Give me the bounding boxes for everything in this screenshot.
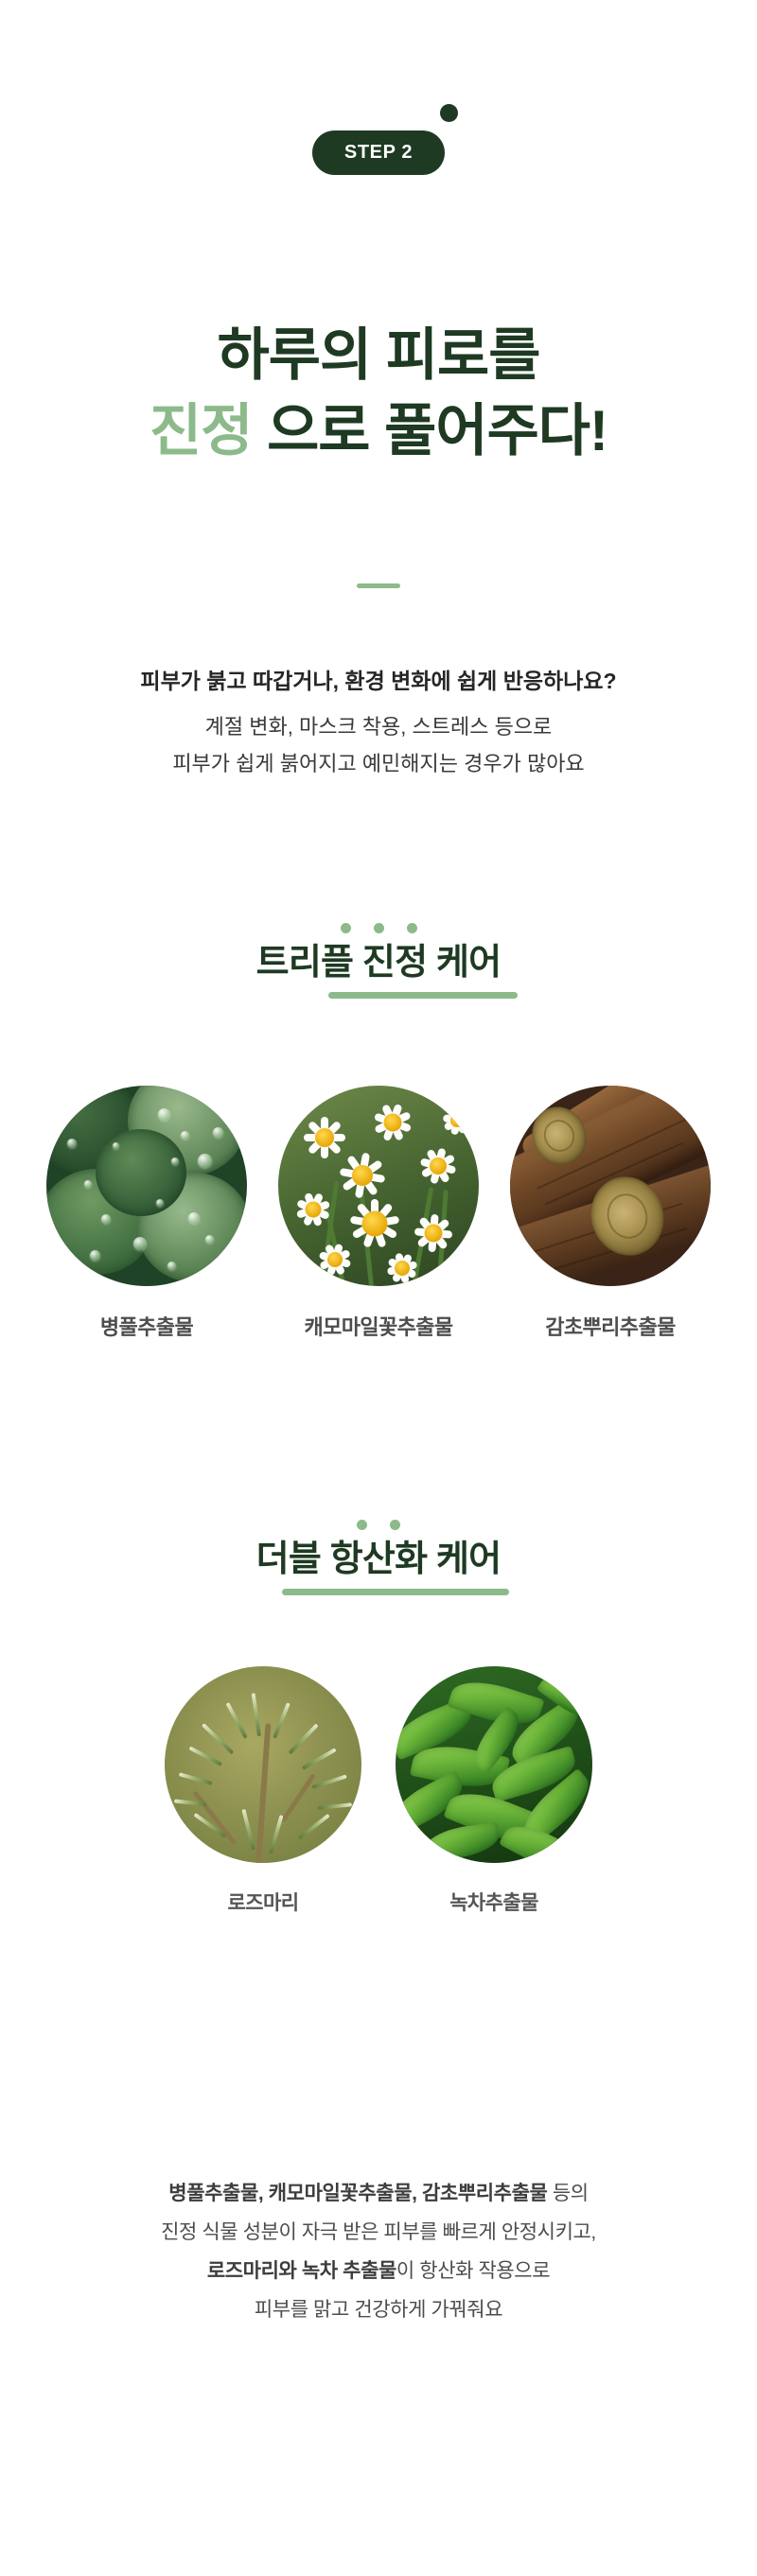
ingredient-item: 캐모마일꽃추출물 xyxy=(278,1086,479,1341)
closing-paragraph: 병풀추출물, 캐모마일꽃추출물, 감초뿌리추출물 등의 진정 식물 성분이 자극… xyxy=(0,2175,757,2330)
dot-icon xyxy=(390,1520,400,1530)
title-underline xyxy=(328,992,518,999)
ingredient-label: 캐모마일꽃추출물 xyxy=(304,1311,452,1341)
licorice-root-photo xyxy=(510,1086,711,1286)
closing-line-2: 진정 식물 성분이 자극 받은 피부를 빠르게 안정시키고, xyxy=(0,2214,757,2253)
section-heading-double-antioxidant-care: 더블 항산화 케어 xyxy=(0,1520,757,1595)
step-badge: STEP 2 xyxy=(312,131,445,175)
page-title: 하루의 피로를 진정 으로 풀어주다! xyxy=(0,318,757,469)
headline-accent: 진정 xyxy=(150,399,252,462)
green-tea-leaves-photo xyxy=(396,1666,592,1863)
centella-leaves-photo xyxy=(46,1086,247,1286)
ingredient-item: 로즈마리 xyxy=(165,1666,361,1916)
section-divider xyxy=(0,583,757,588)
circle-dot-icon xyxy=(440,104,458,122)
intro-lead: 피부가 붉고 따갑거나, 환경 변화에 쉽게 반응하나요? xyxy=(0,662,757,701)
closing-line-4: 피부를 맑고 건강하게 가꿔줘요 xyxy=(0,2291,757,2330)
ingredient-label: 로즈마리 xyxy=(228,1888,299,1916)
decorative-dots-group xyxy=(357,1520,400,1530)
closing-line-3-rest: 이 항산화 작용으로 xyxy=(396,2260,550,2282)
dot-icon xyxy=(374,923,384,933)
dot-icon xyxy=(357,1520,367,1530)
ingredient-item: 녹차추출물 xyxy=(396,1666,592,1916)
ingredient-row-double: 로즈마리 녹차추출물 xyxy=(0,1666,757,1916)
product-detail-page: STEP 2 하루의 피로를 진정 으로 풀어주다! 피부가 붉고 따갑거나, … xyxy=(0,0,757,2576)
intro-sub-line-2: 피부가 쉽게 붉어지고 예민해지는 경우가 많아요 xyxy=(0,745,757,782)
section-title: 더블 항산화 케어 xyxy=(256,1539,502,1582)
dot-icon xyxy=(341,923,351,933)
daisy-icon xyxy=(413,1140,464,1192)
daisy-icon xyxy=(365,1095,420,1150)
closing-line-1-bold: 병풀추출물, 캐모마일꽃추출물, 감초뿌리추출물 xyxy=(168,2183,547,2204)
daisy-icon xyxy=(380,1246,424,1286)
ingredient-label: 녹차추출물 xyxy=(449,1888,538,1916)
title-underline xyxy=(282,1589,509,1595)
closing-line-3: 로즈마리와 녹차 추출물이 항산화 작용으로 xyxy=(0,2253,757,2291)
ingredient-label: 감초뿌리추출물 xyxy=(545,1311,675,1341)
closing-line-1-rest: 등의 xyxy=(547,2183,588,2204)
ingredient-row-triple: 병풀추출물 xyxy=(0,1086,757,1341)
section-heading-triple-soothing-care: 트리플 진정 케어 xyxy=(0,923,757,999)
daisy-icon xyxy=(445,1244,479,1282)
headline-line-2-rest: 으로 풀어주다! xyxy=(252,399,607,462)
closing-line-3-bold: 로즈마리와 녹차 추출물 xyxy=(207,2260,396,2282)
dot-icon xyxy=(407,923,417,933)
daisy-icon xyxy=(290,1186,337,1233)
intro-sub-line-1: 계절 변화, 마스크 착용, 스트레스 등으로 xyxy=(0,708,757,745)
intro-paragraph: 피부가 붉고 따갑거나, 환경 변화에 쉽게 반응하나요? 계절 변화, 마스크… xyxy=(0,662,757,782)
ingredient-item: 병풀추출물 xyxy=(46,1086,247,1341)
ingredient-item: 감초뿌리추출물 xyxy=(510,1086,711,1341)
closing-line-1: 병풀추출물, 캐모마일꽃추출물, 감초뿌리추출물 등의 xyxy=(0,2175,757,2214)
daisy-icon xyxy=(437,1101,477,1140)
ingredient-label: 병풀추출물 xyxy=(100,1311,193,1341)
headline-line-2: 진정 으로 풀어주다! xyxy=(0,393,757,469)
daisy-icon xyxy=(312,1237,358,1282)
decorative-dots-group xyxy=(341,923,417,933)
step-badge-container: STEP 2 xyxy=(0,131,757,175)
headline-line-1: 하루의 피로를 xyxy=(0,318,757,393)
chamomile-flowers-photo xyxy=(278,1086,479,1286)
section-title: 트리플 진정 케어 xyxy=(256,942,502,985)
rosemary-sprig-photo xyxy=(165,1666,361,1863)
